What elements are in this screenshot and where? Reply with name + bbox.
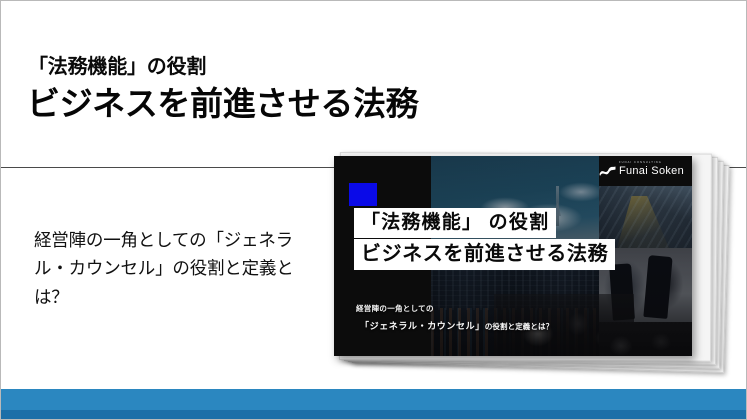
page-title: ビジネスを前進させる法務 [27,83,418,125]
document-thumbnail-stack[interactable]: 「法務機能」 の役割 ビジネスを前進させる法務 経営陣の一角としての 「ジェネラ… [334,151,724,366]
slide-subtitle-rest: の役割と定義とは？ [485,322,553,331]
logo-text: FUNAI CONSULTING Funai Soken [619,162,684,177]
slide-subtitle-emphasis: 「ジェネラル・カウンセル」 [360,321,485,331]
slide-subtitle-line-1: 経営陣の一角としての [356,304,434,313]
slide-subtitle-line-2: 「ジェネラル・カウンセル」の役割と定義とは？ [360,319,553,332]
slide-title-line-2: ビジネスを前進させる法務 [354,239,615,270]
blue-accent-square [349,183,377,206]
footer-bar-top [1,389,747,410]
wave-mark-icon [599,165,616,177]
slide-page: 「法務機能」の役割 ビジネスを前進させる法務 経営陣の一角としての「ジェネラル・… [0,0,747,420]
funai-soken-logo: FUNAI CONSULTING Funai Soken [599,162,684,177]
cover-slide-preview[interactable]: 「法務機能」 の役割 ビジネスを前進させる法務 経営陣の一角としての 「ジェネラ… [334,156,692,356]
body-description: 経営陣の一角としての「ジェネラル・カウンセル」の役割と定義とは？ [34,226,319,311]
page-eyebrow: 「法務機能」の役割 [28,55,206,80]
footer-bar-bottom [1,410,747,419]
slide-title-line-1: 「法務機能」 の役割 [354,208,556,238]
page-header: 「法務機能」の役割 ビジネスを前進させる法務 [1,1,747,168]
footer-bar [1,389,747,419]
logo-name: Funai Soken [619,166,684,177]
